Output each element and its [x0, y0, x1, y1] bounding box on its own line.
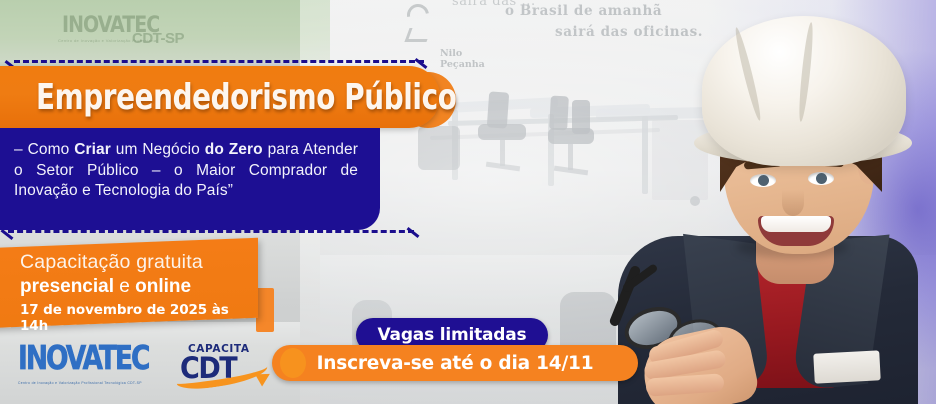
promo-banner: INOVATEC CDT-SP Centro de Inovação e Val…: [0, 0, 936, 404]
inovatec-logo[interactable]: INOVATEC Centro de Inovação e Valorizaçã…: [18, 344, 158, 385]
capacitacao-date: 17 de novembro de 2025 às 14h: [20, 302, 258, 334]
inovatec-wordmark: INOVATEC: [18, 340, 161, 378]
capacitacao-conjunction: e: [114, 276, 135, 297]
cdt-wordmark: CDT: [180, 351, 236, 385]
capacitacao-line-1: Capacitação gratuita: [20, 251, 258, 274]
description-text: – Como Criar um Negócio do Zero para Ate…: [14, 140, 358, 202]
person-mouth: [758, 216, 834, 246]
capacitacao-online: online: [135, 276, 191, 297]
person-name-badge: [813, 350, 880, 383]
third-logo-mark: [280, 348, 306, 378]
capacitacao-line-2: presencial e online: [20, 276, 258, 298]
capacita-cdt-logo[interactable]: CAPACITA CDT: [170, 340, 274, 388]
wall-sign-tagline: Centro de Inovação e Valorização Profiss…: [58, 38, 158, 43]
person-pupil-right: [816, 173, 827, 184]
orange-accent-strip: [256, 288, 274, 332]
person-pupil-left: [758, 175, 769, 186]
dashed-border-bottom: [8, 230, 414, 233]
vagas-limitadas-label: Vagas limitadas: [378, 325, 527, 345]
inscreva-se-label: Inscreva-se até o dia 14/11: [317, 353, 594, 374]
logo-row: INOVATEC Centro de Inovação e Valorizaçã…: [18, 340, 278, 390]
title-banner: Empreendedorismo Público: [0, 66, 440, 128]
photo-person-engineer: [596, 0, 936, 404]
page-title: Empreendedorismo Público: [36, 76, 456, 117]
dashed-border-top: [14, 60, 424, 63]
capacitacao-box: Capacitação gratuita presencial e online…: [0, 238, 258, 328]
person-nose: [782, 190, 804, 216]
inovatec-tagline: Centro de Inovação e Valorização Profiss…: [18, 381, 158, 385]
description-box: – Como Criar um Negócio do Zero para Ate…: [0, 128, 380, 230]
capacitacao-presencial: presencial: [20, 276, 114, 297]
inscreva-se-button[interactable]: Inscreva-se até o dia 14/11: [272, 345, 638, 381]
person-teeth: [761, 216, 831, 232]
